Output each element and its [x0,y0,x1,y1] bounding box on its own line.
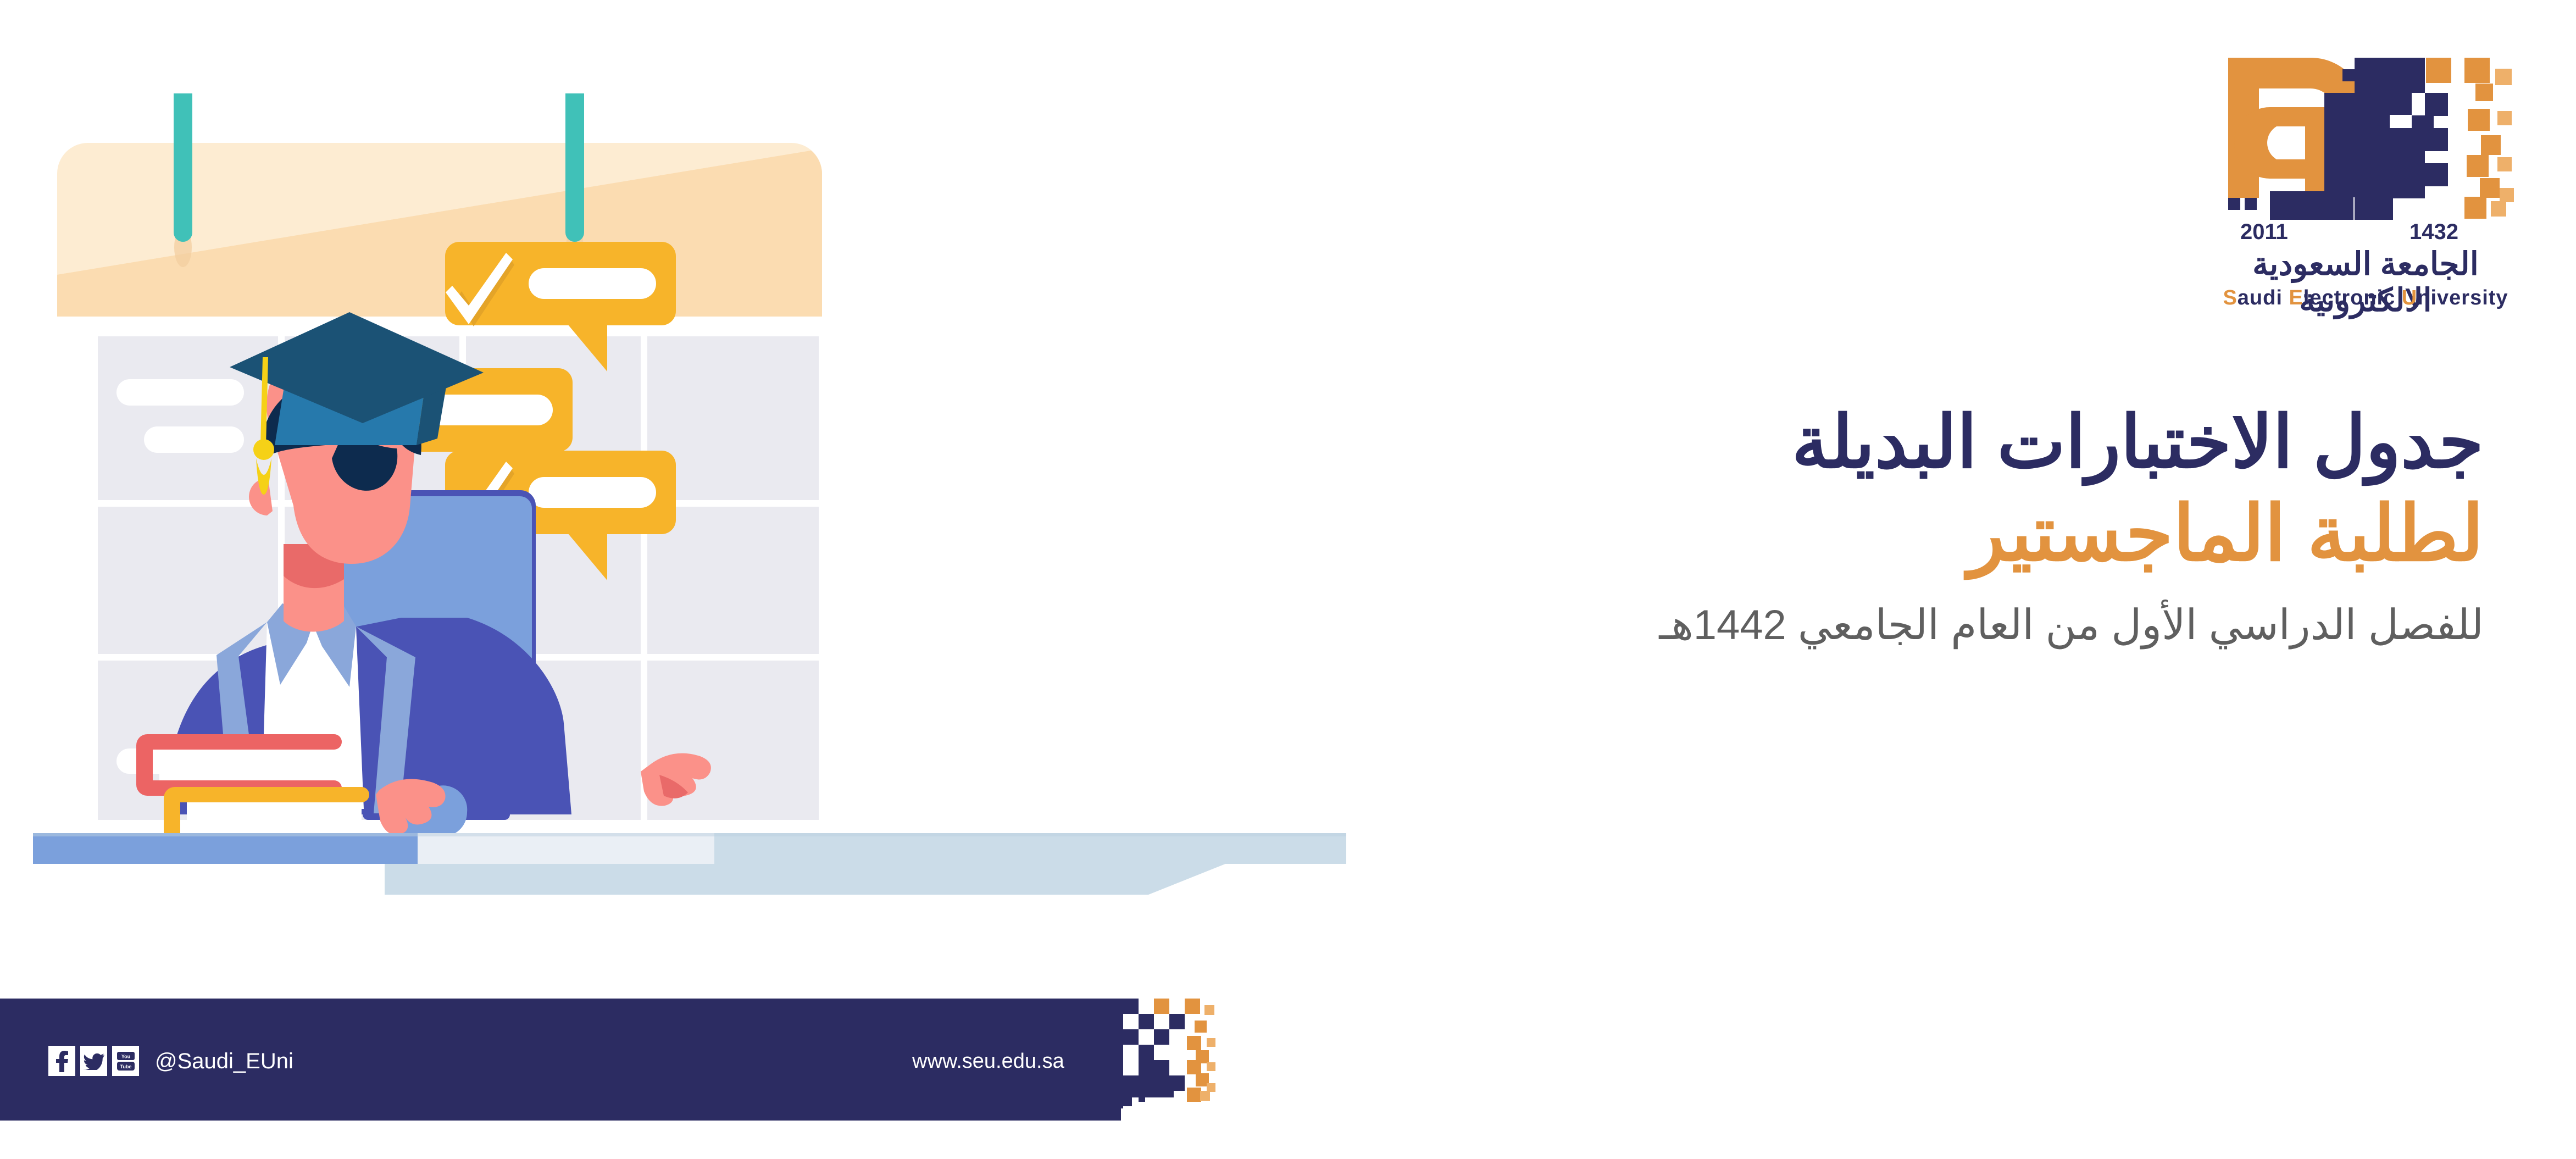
logo-years: 2011 1432 [2190,220,2541,248]
logo-name-english: Saudi Electronic University [2190,286,2541,310]
website-url[interactable]: www.seu.edu.sa [912,1049,1064,1073]
student-at-computer-with-calendar-illustration [0,93,1346,929]
footer-pixel-accent-icon [1088,996,1264,1128]
footer-bar: You Tube @Saudi_EUni www.seu.edu.sa [0,999,1264,1121]
twitter-icon[interactable] [80,1046,107,1076]
seu-at-symbol-pixel-logo-icon [2190,38,2541,220]
logo-en-s: S [2223,286,2237,309]
logo-year-gregorian: 2011 [2240,220,2288,244]
youtube-icon[interactable]: You Tube [112,1046,139,1076]
university-logo: 2011 1432 الجامعة السعودية الالكترونية S… [2190,38,2541,319]
svg-text:Tube: Tube [120,1064,131,1069]
logo-en-lectronic: lectronic [2303,286,2402,309]
teal-pin-right [565,93,584,242]
logo-year-hijri: 1432 [2410,220,2458,244]
logo-en-e: E [2289,286,2303,309]
logo-en-u: U [2402,286,2417,309]
desk [33,833,1346,895]
svg-text:You: You [121,1053,130,1059]
facebook-icon[interactable] [48,1046,75,1076]
teal-pin-left [174,93,192,242]
social-links: You Tube @Saudi_EUni [48,1046,293,1076]
poster-canvas: 2011 1432 الجامعة السعودية الالكترونية S… [0,0,2576,1159]
logo-en-audi: audi [2238,286,2289,309]
social-handle: @Saudi_EUni [155,1049,293,1073]
logo-en-niversity: niversity [2417,286,2508,309]
calendar-header-panel [57,143,822,317]
